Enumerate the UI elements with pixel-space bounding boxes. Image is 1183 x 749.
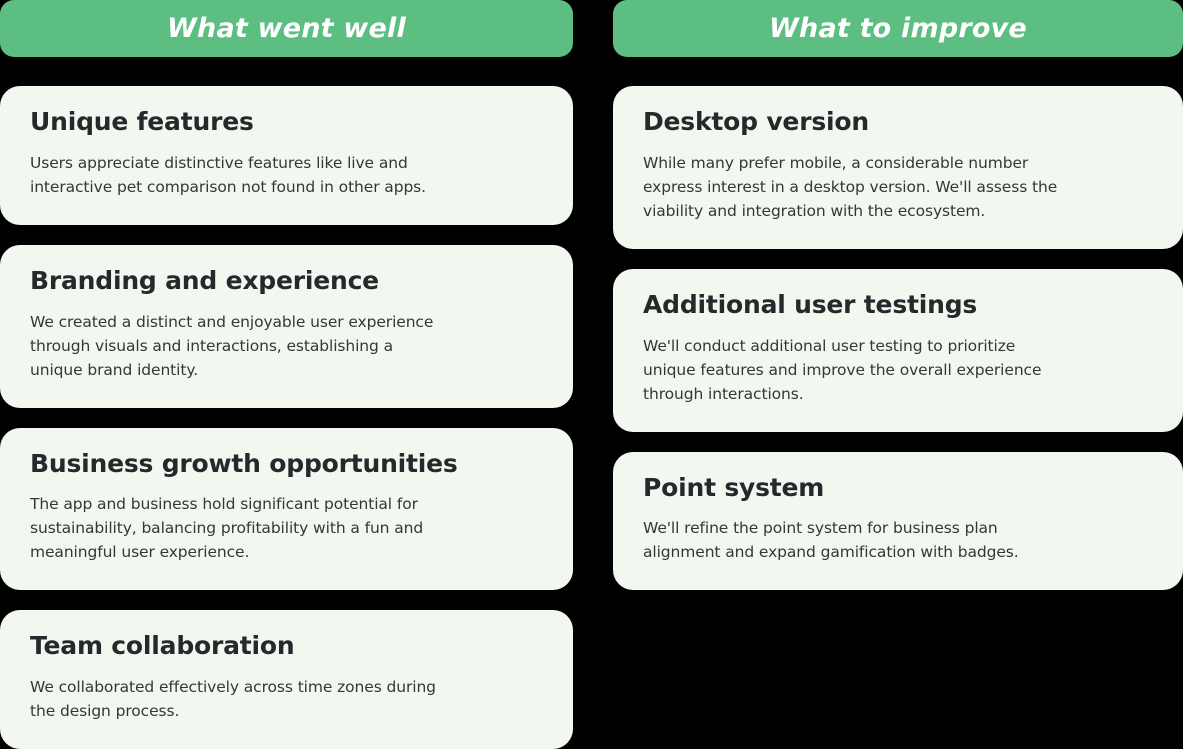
card-body: We'll conduct additional user testing to… xyxy=(643,334,1153,406)
column-divider xyxy=(573,0,613,1)
column-what-went-well: What went well Unique features Users app… xyxy=(0,0,573,749)
card-body: Users appreciate distinctive features li… xyxy=(30,151,543,199)
card-title: Branding and experience xyxy=(30,267,543,296)
column-header-what-to-improve: What to improve xyxy=(613,0,1183,57)
card-additional-user-testings[interactable]: Additional user testings We'll conduct a… xyxy=(613,269,1183,432)
card-business-growth-opportunities[interactable]: Business growth opportunities The app an… xyxy=(0,428,573,591)
card-body: We'll refine the point system for busine… xyxy=(643,516,1153,564)
card-team-collaboration[interactable]: Team collaboration We collaborated effec… xyxy=(0,610,573,749)
column-header-what-went-well: What went well xyxy=(0,0,573,57)
card-list-what-went-well: Unique features Users appreciate distinc… xyxy=(0,86,573,749)
card-title: Unique features xyxy=(30,108,543,137)
card-title: Point system xyxy=(643,474,1153,503)
card-list-what-to-improve: Desktop version While many prefer mobile… xyxy=(613,86,1183,590)
card-body: We created a distinct and enjoyable user… xyxy=(30,310,543,382)
card-title: Additional user testings xyxy=(643,291,1153,320)
card-body: The app and business hold significant po… xyxy=(30,492,543,564)
card-point-system[interactable]: Point system We'll refine the point syst… xyxy=(613,452,1183,591)
card-title: Business growth opportunities xyxy=(30,450,543,479)
card-title: Team collaboration xyxy=(30,632,543,661)
card-desktop-version[interactable]: Desktop version While many prefer mobile… xyxy=(613,86,1183,249)
retrospective-board: What went well Unique features Users app… xyxy=(0,0,1183,717)
card-body: We collaborated effectively across time … xyxy=(30,675,543,723)
column-what-to-improve: What to improve Desktop version While ma… xyxy=(613,0,1183,590)
card-unique-features[interactable]: Unique features Users appreciate distinc… xyxy=(0,86,573,225)
card-title: Desktop version xyxy=(643,108,1153,137)
card-branding-and-experience[interactable]: Branding and experience We created a dis… xyxy=(0,245,573,408)
card-body: While many prefer mobile, a considerable… xyxy=(643,151,1153,223)
